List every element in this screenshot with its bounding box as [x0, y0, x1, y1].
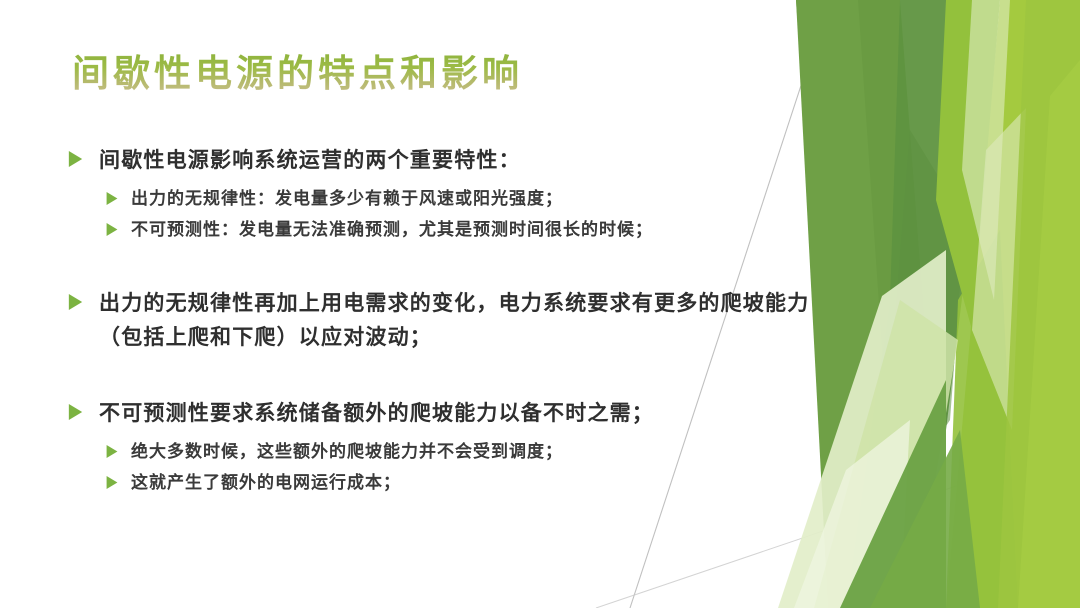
bullet-level1-text: 间歇性电源影响系统运营的两个重要特性： — [99, 143, 521, 177]
triangle-right-icon — [68, 151, 83, 167]
sub-bullet-group: 出力的无规律性：发电量多少有赖于风速或阳光强度； 不可预测性：发电量无法准确预测… — [68, 185, 838, 244]
bullet-level2-text: 绝大多数时候，这些额外的爬坡能力并不会受到调度； — [131, 438, 563, 466]
triangle-right-icon — [68, 294, 83, 310]
title-block: 间歇性电源的特点和影响 — [72, 50, 772, 96]
bullet-level2-text: 出力的无规律性：发电量多少有赖于风速或阳光强度； — [131, 185, 563, 213]
bullet-level2: 绝大多数时候，这些额外的爬坡能力并不会受到调度； — [106, 438, 838, 466]
content-block: 间歇性电源影响系统运营的两个重要特性： 出力的无规律性：发电量多少有赖于风速或阳… — [68, 143, 838, 244]
bullet-level1-text: 不可预测性要求系统储备额外的爬坡能力以备不时之需； — [99, 396, 654, 430]
triangle-right-icon — [106, 223, 118, 236]
triangle-right-icon — [106, 192, 118, 205]
bullet-level2: 不可预测性：发电量无法准确预测，尤其是预测时间很长的时候； — [106, 216, 838, 244]
bullet-level2-text: 这就产生了额外的电网运行成本； — [131, 469, 401, 497]
content-block: 不可预测性要求系统储备额外的爬坡能力以备不时之需； 绝大多数时候，这些额外的爬坡… — [68, 396, 838, 497]
triangle-right-icon — [68, 404, 83, 420]
bullet-level1: 出力的无规律性再加上用电需求的变化，电力系统要求有更多的爬坡能力（包括上爬和下爬… — [68, 286, 838, 354]
triangle-right-icon — [106, 445, 118, 458]
sub-bullet-group: 绝大多数时候，这些额外的爬坡能力并不会受到调度； 这就产生了额外的电网运行成本； — [68, 438, 838, 497]
bullet-level2: 这就产生了额外的电网运行成本； — [106, 469, 838, 497]
bullet-level2: 出力的无规律性：发电量多少有赖于风速或阳光强度； — [106, 185, 838, 213]
triangle-right-icon — [106, 476, 118, 489]
bullet-level2-text: 不可预测性：发电量无法准确预测，尤其是预测时间很长的时候； — [131, 216, 653, 244]
slide-canvas: 间歇性电源的特点和影响 间歇性电源影响系统运营的两个重要特性： 出力的无规律性：… — [0, 0, 1080, 608]
bullet-level1: 不可预测性要求系统储备额外的爬坡能力以备不时之需； — [68, 396, 838, 430]
bullet-level1-text: 出力的无规律性再加上用电需求的变化，电力系统要求有更多的爬坡能力（包括上爬和下爬… — [99, 286, 838, 354]
content-block: 出力的无规律性再加上用电需求的变化，电力系统要求有更多的爬坡能力（包括上爬和下爬… — [68, 286, 838, 354]
page-title: 间歇性电源的特点和影响 — [72, 50, 772, 96]
body-content: 间歇性电源影响系统运营的两个重要特性： 出力的无规律性：发电量多少有赖于风速或阳… — [68, 143, 838, 500]
bullet-level1: 间歇性电源影响系统运营的两个重要特性： — [68, 143, 838, 177]
